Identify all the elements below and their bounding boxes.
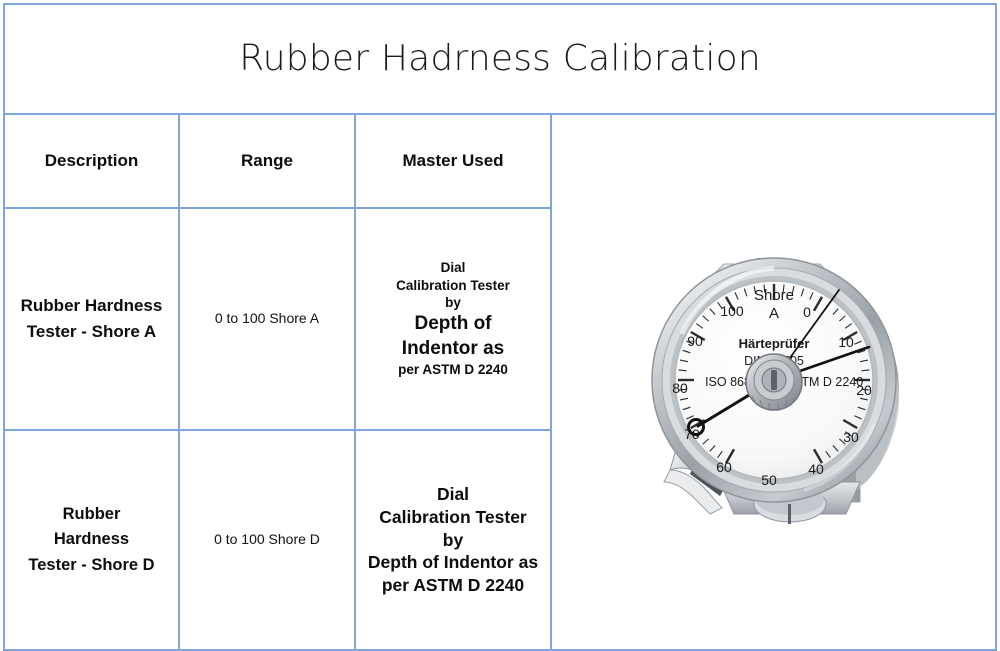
description-row2-line2: Hardness	[11, 527, 172, 553]
column-header-description: Description	[5, 151, 178, 171]
master-used-row2-line5: per ASTM D 2240	[356, 574, 550, 597]
master-used-row1-line5: Indentor as	[356, 337, 550, 362]
dial-tick-40: 40	[808, 461, 824, 477]
master-used-row1-line4: Depth of	[356, 312, 550, 337]
master-used-row1: Dial Calibration Tester by Depth of Inde…	[356, 259, 550, 379]
range-row2: 0 to 100 Shore D	[180, 526, 354, 554]
durometer-illustration-wrap: 0 10 20 30 40 50 60 70 80 90	[552, 115, 995, 649]
column-header-master-used: Master Used	[356, 151, 550, 171]
dial-tick-100: 100	[720, 303, 744, 319]
durometer-image-cell: 0 10 20 30 40 50 60 70 80 90	[551, 114, 996, 650]
description-row2-line1: Rubber	[11, 502, 172, 528]
header-cell-description: Description	[4, 114, 179, 208]
cell-description-row1: Rubber Hardness Tester - Shore A	[4, 208, 179, 430]
master-used-row2-line2: Calibration Tester	[356, 506, 550, 529]
header-cell-range: Range	[179, 114, 355, 208]
description-row1-line1: Rubber Hardness	[11, 293, 172, 319]
master-used-row1-line3: by	[356, 294, 550, 312]
header-cell-master-used: Master Used	[355, 114, 551, 208]
dial-tick-50: 50	[761, 472, 777, 488]
dial-tick-0: 0	[803, 304, 811, 320]
dial-tick-30: 30	[843, 429, 859, 445]
description-row2: Rubber Hardness Tester - Shore D	[5, 498, 178, 583]
dial-tick-90: 90	[687, 333, 703, 349]
calibration-page: Rubber Hadrness Calibration Description …	[0, 0, 1000, 650]
master-used-row2-line3: by	[356, 529, 550, 552]
column-header-range: Range	[180, 151, 354, 171]
table-header-row: Description Range Master Used	[4, 114, 996, 208]
description-row2-line3: Tester - Shore D	[11, 553, 172, 579]
master-used-row1-line1: Dial	[356, 259, 550, 277]
description-row1: Rubber Hardness Tester - Shore A	[5, 289, 178, 350]
dial-tick-80: 80	[672, 380, 688, 396]
description-row1-line2: Tester - Shore A	[11, 319, 172, 345]
range-row1: 0 to 100 Shore A	[180, 305, 354, 333]
master-used-row2-line4: Depth of Indentor as	[356, 551, 550, 574]
master-used-row2-line1: Dial	[356, 483, 550, 506]
master-used-row2: Dial Calibration Tester by Depth of Inde…	[356, 483, 550, 597]
title-row: Rubber Hadrness Calibration	[4, 4, 996, 114]
calibration-table: Rubber Hadrness Calibration Description …	[3, 3, 997, 651]
dial-brand-line1: Shore	[754, 287, 794, 304]
master-used-row1-line2: Calibration Tester	[356, 277, 550, 295]
dial-iso: ISO 868	[705, 375, 751, 389]
cell-master-used-row2: Dial Calibration Tester by Depth of Inde…	[355, 430, 551, 650]
durometer-icon: 0 10 20 30 40 50 60 70 80 90	[624, 234, 924, 530]
cell-range-row1: 0 to 100 Shore A	[179, 208, 355, 430]
cell-range-row2: 0 to 100 Shore D	[179, 430, 355, 650]
page-title: Rubber Hadrness Calibration	[5, 39, 995, 79]
dial-tick-10: 10	[838, 334, 854, 350]
dial-tick-60: 60	[716, 459, 732, 475]
cell-master-used-row1: Dial Calibration Tester by Depth of Inde…	[355, 208, 551, 430]
dial-haerteprufer: Härteprüfer	[738, 336, 809, 351]
cell-description-row2: Rubber Hardness Tester - Shore D	[4, 430, 179, 650]
dial-brand-line2: A	[769, 305, 779, 322]
master-used-row1-line6: per ASTM D 2240	[356, 361, 550, 379]
page-title-cell: Rubber Hadrness Calibration	[4, 4, 996, 114]
